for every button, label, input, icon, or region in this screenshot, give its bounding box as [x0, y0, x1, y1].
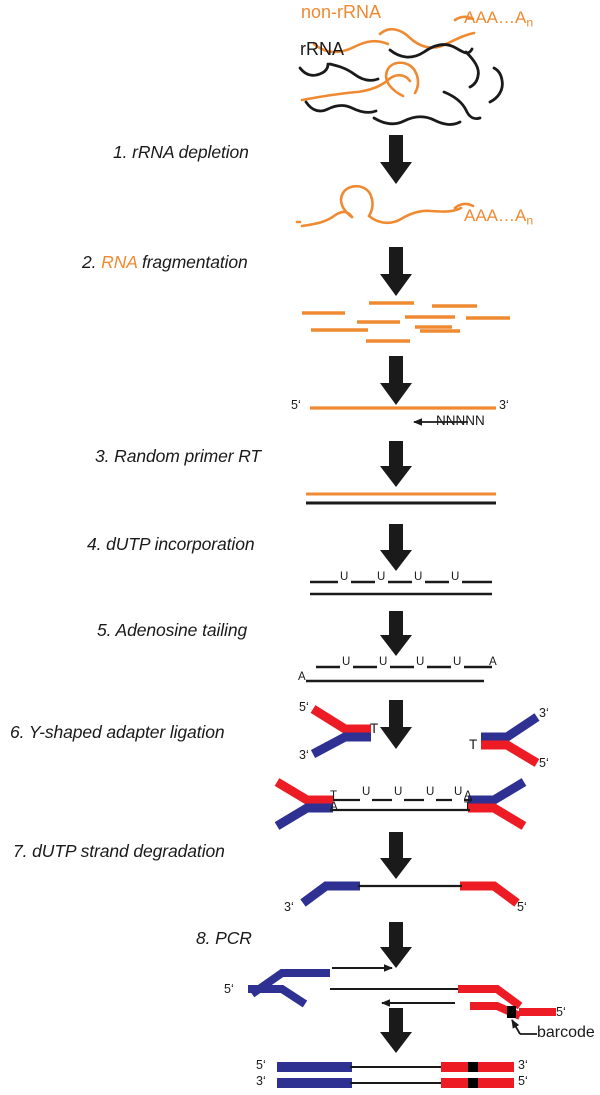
rrna-strand-5 [490, 68, 502, 102]
depleted-strand-4 [369, 208, 461, 223]
final-top-barcode [468, 1062, 478, 1072]
left-y-adapter [313, 709, 371, 754]
final-top-blue-adapter [277, 1062, 352, 1072]
rrna-strand-7 [444, 92, 480, 119]
barcode-label: barcode [537, 1024, 595, 1042]
final-bottom-right-label: 5‘ [518, 1074, 528, 1088]
u-label-1: U [340, 571, 348, 583]
right-adapter-red-arm [481, 745, 537, 763]
degraded-three-prime: 3‘ [284, 900, 294, 914]
process-arrow-2 [380, 247, 412, 296]
left-adapter-three-prime: 3‘ [299, 748, 309, 762]
degraded-blue-adapter [303, 886, 360, 903]
u-label-a2: U [379, 656, 387, 668]
final-top-left-label: 5‘ [256, 1058, 266, 1072]
non-rrna-label: non-rRNA [301, 2, 381, 23]
u-label-a1: U [342, 656, 350, 668]
u-label-a4: U [453, 656, 461, 668]
barcode-marker-pcr [507, 1006, 516, 1018]
step-label-1: 1. rRNA depletion [113, 142, 249, 163]
final-library-product [277, 1062, 514, 1088]
polya-label-1: AAA…An [464, 8, 533, 29]
step-label-7: 7. dUTP strand degradation [13, 841, 225, 862]
right-adapter-blue-arm [481, 717, 537, 737]
u-label-a3: U [416, 656, 424, 668]
right-adapter-t-overhang: T [469, 737, 477, 752]
process-arrow-3 [380, 356, 412, 405]
a-tailed-duplex [306, 660, 492, 681]
rrna-strand-1 [390, 45, 472, 58]
ligated-right-red [468, 808, 524, 826]
process-arrow-7 [380, 700, 412, 749]
degraded-five-prime: 5‘ [517, 900, 527, 914]
rt-three-prime-label: 3‘ [499, 398, 509, 412]
process-arrow-1 [380, 135, 412, 184]
step-label-2: 2. RNA fragmentation [82, 252, 248, 273]
ligated-right-blue [468, 782, 524, 800]
process-arrow-8 [380, 832, 412, 879]
u-label-4: U [451, 571, 459, 583]
rrna-strand-8 [374, 117, 460, 125]
ligated-left-a: A [330, 801, 338, 813]
ligated-left-red [277, 782, 333, 800]
pcr-blue-primer-lower [248, 989, 305, 1004]
step-2-text: fragmentation [142, 252, 248, 272]
degraded-strand [303, 886, 517, 903]
rrna-strand-6 [306, 102, 376, 112]
u-label-lig-1: U [362, 786, 370, 798]
step-label-3: 3. Random primer RT [95, 446, 261, 467]
degraded-red-adapter [460, 886, 517, 903]
non-rrna-strand-5 [302, 92, 356, 100]
depleted-rna [297, 186, 473, 226]
process-arrow-4 [380, 441, 412, 487]
non-rrna-strand-4 [358, 75, 410, 92]
u-label-lig-4: U [454, 786, 462, 798]
step-label-8: 8. PCR [196, 928, 252, 949]
rrna-label: rRNA [300, 39, 344, 60]
step-label-5: 5. Adenosine tailing [97, 620, 247, 641]
right-adapter-three-prime: 3‘ [539, 706, 549, 720]
ligated-left-blue [277, 808, 333, 826]
rna-fragments [302, 303, 510, 341]
figure-canvas: 1. rRNA depletion 2. RNA fragmentation 3… [0, 0, 600, 1095]
process-arrow-9 [380, 922, 412, 968]
left-adapter-five-prime: 5‘ [299, 700, 309, 714]
step-2-number: 2. [82, 252, 96, 272]
u-label-2: U [377, 571, 385, 583]
u-label-3: U [414, 571, 422, 583]
pcr-left-five-prime: 5‘ [224, 982, 234, 996]
final-bottom-left-label: 3‘ [256, 1074, 266, 1088]
barcode-leader-arrow [512, 1020, 520, 1034]
right-y-adapter [481, 717, 537, 763]
ligated-right-t: T [464, 801, 471, 813]
left-adapter-t-overhang: T [370, 721, 378, 736]
pcr-right-five-prime: 5‘ [556, 1005, 566, 1019]
step-label-4: 4. dUTP incorporation [87, 534, 254, 555]
rrna-strand-2 [300, 64, 328, 75]
final-bottom-barcode [468, 1078, 478, 1088]
a-tail-right-label: A [489, 656, 497, 668]
dutp-duplex [310, 575, 492, 594]
step-2-highlight: RNA [101, 252, 137, 272]
depleted-strand-2 [341, 186, 372, 217]
cdna-duplex [306, 494, 496, 503]
depleted-strand-1 [302, 212, 352, 226]
random-primer-label: NNNNN [436, 413, 485, 428]
rrna-strand-3 [330, 64, 378, 80]
left-adapter-red-arm [313, 709, 371, 729]
polya-label-2: AAA…An [464, 206, 533, 227]
final-bottom-blue-adapter [277, 1078, 352, 1088]
polya-text-2: AAA…A [464, 206, 526, 225]
right-adapter-five-prime: 5‘ [539, 756, 549, 770]
u-label-lig-3: U [426, 786, 434, 798]
non-rrna-strand-1 [380, 29, 474, 47]
polya-sub-2: n [526, 213, 533, 227]
left-adapter-blue-arm [313, 737, 371, 754]
polya-text-1: AAA…A [464, 8, 526, 27]
process-arrow-5 [380, 524, 412, 571]
u-label-lig-2: U [394, 786, 402, 798]
rrna-strand-4 [466, 52, 478, 87]
final-top-right-label: 3‘ [518, 1058, 528, 1072]
process-arrow-6 [380, 611, 412, 656]
process-arrow-10 [380, 1008, 412, 1053]
step-label-6: 6. Y-shaped adapter ligation [10, 722, 225, 743]
rt-five-prime-label: 5‘ [291, 398, 301, 412]
input-rna-pool [300, 17, 502, 125]
polya-sub-1: n [526, 15, 533, 29]
a-tail-left-label: A [298, 671, 306, 683]
